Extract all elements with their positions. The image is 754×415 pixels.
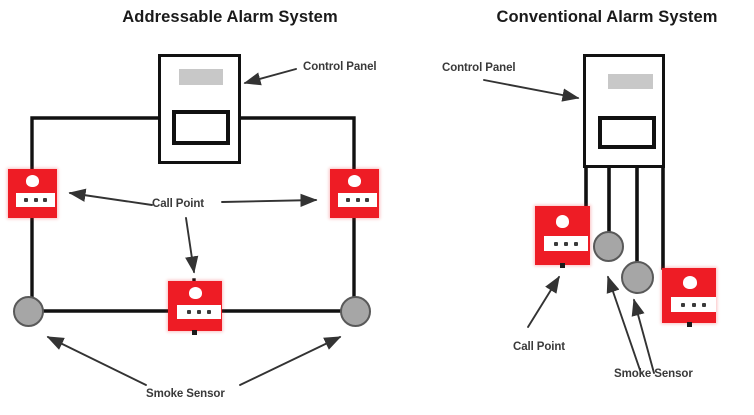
control-panel-label-right: Control Panel [442, 62, 515, 74]
smoke-sensor-icon-lower[interactable] [621, 261, 654, 294]
control-panel-right[interactable] [583, 54, 665, 168]
call-point-dot [365, 198, 369, 202]
smoke-sensor-icon-left[interactable] [13, 296, 44, 327]
call-point-dot [207, 310, 211, 314]
control-panel-keypad[interactable] [598, 116, 656, 149]
call-point-icon-lower-right[interactable] [662, 268, 716, 323]
call-point-dot [197, 310, 201, 314]
call-point-dome [556, 215, 569, 228]
arrow-right-call-point [528, 277, 559, 327]
left-control-panel-arrow [245, 69, 296, 83]
call-point-dome [189, 287, 202, 299]
smoke-sensor-label-right: Smoke Sensor [614, 368, 693, 380]
call-point-dot [346, 198, 350, 202]
arrow-smoke-sensor-left [48, 337, 146, 385]
call-point-icon-left[interactable] [8, 169, 57, 218]
call-point-dot [43, 198, 47, 202]
call-point-dome [26, 175, 39, 187]
control-panel-display [608, 74, 653, 89]
arrow-smoke-sensor-right [240, 337, 340, 385]
call-point-face [338, 193, 377, 207]
call-point-face [16, 193, 55, 207]
call-point-icon-upper-left[interactable] [535, 206, 590, 265]
call-point-label-left: Call Point [152, 198, 204, 210]
call-point-dot [681, 303, 685, 307]
call-point-stud [560, 263, 565, 268]
smoke-sensor-icon-upper[interactable] [593, 231, 624, 262]
call-point-face [177, 305, 221, 319]
call-point-dot [34, 198, 38, 202]
call-point-stud [687, 322, 692, 327]
call-point-icon-center[interactable] [168, 281, 222, 331]
call-point-dot [692, 303, 696, 307]
call-point-face [671, 297, 716, 312]
smoke-sensor-icon-right[interactable] [340, 296, 371, 327]
arrow-call-point-right [222, 200, 316, 202]
call-point-dot [187, 310, 191, 314]
call-point-label-right: Call Point [513, 341, 565, 353]
control-panel-display [179, 69, 223, 85]
call-point-dot [356, 198, 360, 202]
arrow-call-point-left [70, 193, 152, 205]
call-point-dot [574, 242, 578, 246]
call-point-dot [24, 198, 28, 202]
arrow-control-panel-right [484, 80, 578, 98]
call-point-dot [564, 242, 568, 246]
control-panel-keypad[interactable] [172, 110, 230, 145]
arrow-call-point-center [186, 218, 194, 272]
call-point-dome [683, 276, 697, 289]
call-point-dot [702, 303, 706, 307]
smoke-sensor-label-left: Smoke Sensor [146, 388, 225, 400]
call-point-face [544, 236, 588, 251]
call-point-dome [348, 175, 361, 187]
diagram-canvas: Addressable Alarm System Conventional Al… [0, 0, 754, 415]
control-panel-left[interactable] [158, 54, 241, 164]
call-point-icon-right[interactable] [330, 169, 379, 218]
call-point-dot [554, 242, 558, 246]
control-panel-label-left: Control Panel [303, 61, 376, 73]
arrow-control-panel-left [245, 69, 296, 83]
call-point-stud [192, 330, 197, 335]
